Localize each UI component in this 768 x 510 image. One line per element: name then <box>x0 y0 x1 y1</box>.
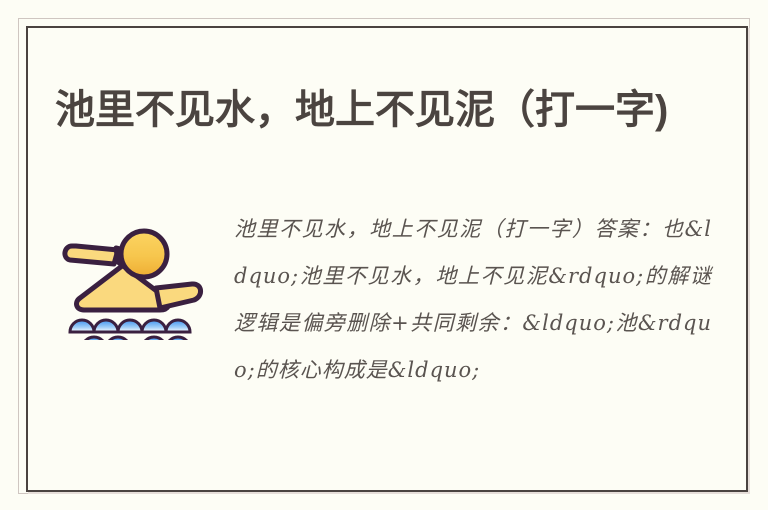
swimmer-right-arm <box>156 284 201 308</box>
answer-container: 池里不见水，地上不见泥（打一字）答案：也&ldquo;池里不见水，地上不见泥&r… <box>234 206 746 394</box>
article-body: 池里不见水，地上不见泥（打一字）答案：也&ldquo;池里不见水，地上不见泥&r… <box>28 206 746 394</box>
swimmer-head <box>121 231 167 277</box>
swimmer-icon <box>56 220 206 340</box>
answer-text: 池里不见水，地上不见泥（打一字）答案：也&ldquo;池里不见水，地上不见泥&r… <box>234 206 712 394</box>
page-title: 池里不见水，地上不见泥（打一字) <box>55 82 695 138</box>
page-root: 池里不见水，地上不见泥（打一字) <box>0 0 768 510</box>
swimmer-left-arm <box>65 246 118 264</box>
water-waves-row-1 <box>70 320 190 332</box>
illustration-container <box>28 206 234 340</box>
content-area: 池里不见水，地上不见泥（打一字) <box>28 28 746 490</box>
water-waves-row-2 <box>82 337 190 340</box>
